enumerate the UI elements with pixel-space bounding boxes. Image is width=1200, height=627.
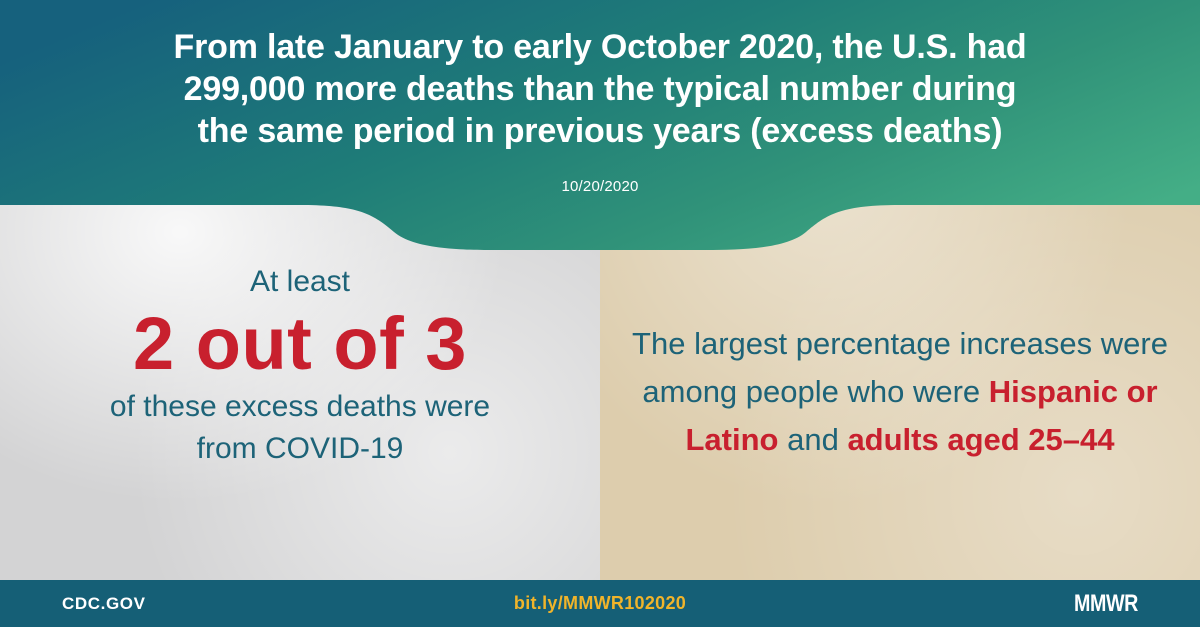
stat-tail-line-1: of these excess deaths were (0, 386, 600, 428)
statement-text-part-2: and (778, 422, 847, 457)
demographic-statement: The largest percentage increases were am… (600, 320, 1200, 464)
page-title: From late January to early October 2020,… (160, 26, 1040, 152)
header-band: From late January to early October 2020,… (0, 0, 1200, 250)
cdc-gov-label[interactable]: CDC.GOV (62, 594, 146, 614)
header-text-container: From late January to early October 2020,… (0, 0, 1200, 250)
stat-tail-line-2: from COVID-19 (0, 428, 600, 470)
mmwr-logo: MMWR (1074, 590, 1138, 618)
footer-bar: CDC.GOV bit.ly/MMWR102020 MMWR (0, 580, 1200, 627)
stat-lead-text: At least (0, 262, 600, 302)
publication-date: 10/20/2020 (561, 178, 638, 195)
short-url-link[interactable]: bit.ly/MMWR102020 (514, 593, 686, 614)
statement-accent-age-group: adults aged 25–44 (847, 422, 1114, 457)
excess-deaths-statistic: At least 2 out of 3 of these excess deat… (0, 262, 600, 470)
stat-headline-figure: 2 out of 3 (0, 302, 600, 386)
cdc-mmwr-infographic: From late January to early October 2020,… (0, 0, 1200, 627)
